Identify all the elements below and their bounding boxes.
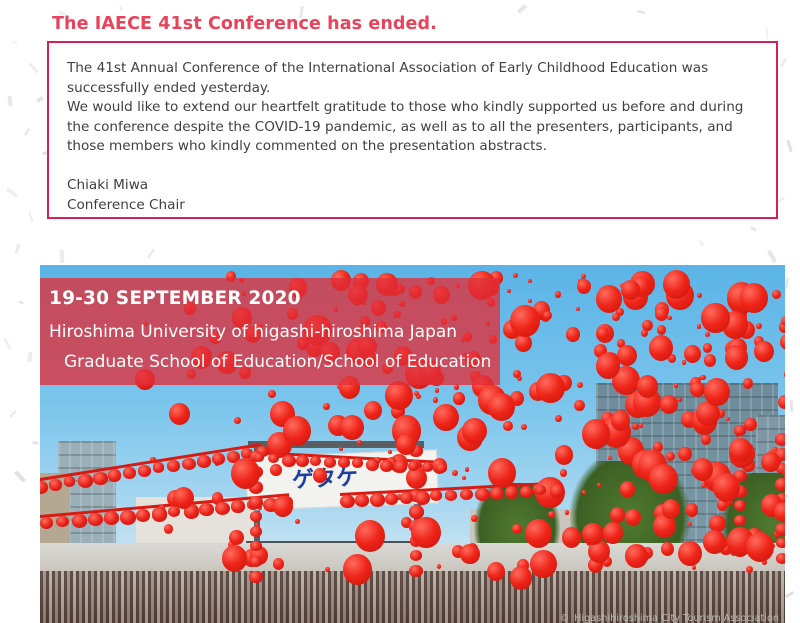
balloon bbox=[666, 452, 675, 461]
conference-banner-image: ゲタケ 19-30 SEPTEMBER 2020 Hiroshima Unive… bbox=[40, 265, 785, 623]
lantern bbox=[430, 490, 442, 501]
lantern bbox=[93, 472, 107, 485]
balloon bbox=[625, 544, 648, 568]
lantern bbox=[338, 457, 350, 468]
balloon bbox=[582, 419, 610, 448]
page-title: The IAECE 41st Conference has ended. bbox=[52, 14, 437, 34]
balloon bbox=[536, 373, 565, 403]
lantern bbox=[56, 516, 69, 528]
balloon bbox=[488, 393, 515, 421]
photo-credit-text: Higashihiroshima City Tourism Associatio… bbox=[574, 613, 779, 623]
balloon bbox=[323, 403, 330, 411]
balloon bbox=[661, 542, 674, 556]
balloon bbox=[465, 467, 469, 471]
balloon bbox=[530, 550, 557, 578]
balloon bbox=[657, 325, 666, 335]
balloon bbox=[663, 270, 690, 299]
balloon bbox=[555, 445, 574, 465]
lantern bbox=[394, 460, 408, 473]
balloon bbox=[726, 417, 730, 421]
balloon bbox=[548, 511, 555, 518]
balloon bbox=[453, 392, 465, 404]
balloon bbox=[437, 564, 441, 568]
balloon bbox=[283, 416, 311, 446]
lantern bbox=[352, 458, 363, 468]
lantern bbox=[167, 460, 180, 472]
balloon bbox=[313, 468, 327, 483]
balloon bbox=[649, 464, 678, 494]
lantern bbox=[120, 510, 136, 525]
lantern bbox=[282, 455, 296, 467]
balloon bbox=[603, 522, 624, 544]
lantern bbox=[776, 553, 785, 564]
balloon bbox=[625, 509, 641, 526]
balloon bbox=[612, 313, 620, 321]
lantern bbox=[104, 511, 119, 525]
lantern bbox=[385, 493, 398, 505]
lantern bbox=[475, 488, 490, 502]
balloon bbox=[433, 404, 459, 431]
balloon bbox=[574, 400, 585, 412]
lantern bbox=[49, 479, 63, 491]
balloon bbox=[273, 496, 293, 517]
lantern bbox=[268, 454, 279, 464]
lantern bbox=[340, 495, 355, 508]
balloon bbox=[682, 360, 686, 364]
balloon bbox=[364, 401, 382, 420]
lantern bbox=[153, 462, 165, 473]
notice-paragraph-2: We would like to extend our heartfelt gr… bbox=[67, 98, 760, 157]
balloon bbox=[596, 353, 620, 379]
balloon bbox=[700, 375, 705, 381]
balloon bbox=[632, 423, 639, 430]
lantern bbox=[108, 469, 121, 481]
balloon bbox=[684, 345, 701, 363]
balloon bbox=[729, 438, 752, 462]
lantern bbox=[370, 493, 385, 507]
balloon bbox=[339, 447, 343, 452]
balloon bbox=[521, 424, 527, 430]
balloon bbox=[725, 345, 748, 370]
balloon bbox=[562, 527, 582, 548]
balloon bbox=[754, 341, 774, 362]
balloon bbox=[639, 423, 644, 428]
balloon bbox=[582, 523, 604, 546]
lantern bbox=[249, 571, 262, 583]
balloon bbox=[582, 490, 586, 494]
lantern bbox=[136, 509, 150, 522]
lantern bbox=[445, 490, 457, 501]
banner-date: 19-30 SEPTEMBER 2020 bbox=[49, 288, 301, 309]
lantern bbox=[249, 496, 263, 509]
notice-paragraph-1: The 41st Annual Conference of the Intern… bbox=[67, 59, 760, 98]
lantern bbox=[250, 556, 262, 567]
lantern bbox=[250, 541, 262, 551]
balloon bbox=[761, 452, 780, 472]
lantern bbox=[550, 484, 565, 498]
balloon bbox=[637, 375, 659, 398]
balloon bbox=[164, 524, 174, 534]
lantern bbox=[409, 565, 423, 577]
balloon bbox=[690, 382, 705, 398]
notice-box: The 41st Annual Conference of the Intern… bbox=[47, 41, 778, 219]
balloon bbox=[510, 566, 532, 590]
lantern bbox=[410, 550, 422, 561]
banner-text-overlay: 19-30 SEPTEMBER 2020 Hiroshima Universit… bbox=[40, 278, 500, 385]
balloon bbox=[701, 303, 729, 333]
balloon bbox=[697, 324, 702, 329]
balloon bbox=[543, 311, 552, 321]
balloon bbox=[756, 323, 762, 329]
lantern bbox=[355, 494, 369, 507]
balloon bbox=[222, 545, 247, 572]
balloon bbox=[778, 395, 785, 409]
balloon bbox=[667, 316, 672, 321]
balloon bbox=[462, 418, 487, 444]
notice-body: The 41st Annual Conference of the Intern… bbox=[67, 59, 760, 215]
lantern bbox=[734, 500, 746, 511]
banner-venue: Hiroshima University of higashi-hiroshim… bbox=[49, 322, 457, 342]
balloon bbox=[460, 544, 479, 565]
balloon bbox=[231, 458, 260, 489]
lantern bbox=[212, 453, 225, 465]
lantern bbox=[734, 425, 746, 436]
balloon bbox=[686, 503, 699, 517]
balloon bbox=[772, 290, 781, 299]
lantern bbox=[422, 462, 433, 472]
copyright-icon: © bbox=[560, 613, 570, 623]
balloon bbox=[411, 517, 440, 548]
balloon bbox=[621, 280, 640, 300]
balloon bbox=[596, 285, 622, 313]
balloon bbox=[229, 530, 244, 546]
balloon bbox=[743, 378, 754, 389]
lantern bbox=[88, 513, 103, 527]
balloon bbox=[678, 541, 702, 566]
balloon bbox=[510, 305, 540, 337]
lantern bbox=[231, 500, 245, 513]
balloon bbox=[713, 473, 740, 502]
balloon bbox=[357, 440, 362, 445]
lantern bbox=[78, 474, 93, 488]
lantern bbox=[310, 456, 321, 466]
balloon bbox=[150, 457, 156, 463]
signature-spacer bbox=[67, 157, 760, 176]
conference-announcement-page: The IAECE 41st Conference has ended. The… bbox=[0, 0, 800, 623]
balloon bbox=[525, 519, 552, 548]
balloon bbox=[471, 515, 478, 522]
balloon bbox=[487, 562, 505, 581]
balloon bbox=[566, 327, 580, 341]
lantern bbox=[400, 492, 413, 504]
balloon bbox=[173, 487, 194, 509]
lantern bbox=[775, 478, 785, 491]
balloon bbox=[325, 567, 330, 572]
balloon bbox=[513, 370, 521, 379]
balloon bbox=[660, 395, 678, 414]
lantern bbox=[776, 538, 785, 548]
lantern bbox=[152, 507, 168, 522]
balloon bbox=[169, 403, 190, 425]
lantern bbox=[415, 491, 430, 505]
balloon bbox=[688, 522, 692, 526]
balloon bbox=[740, 283, 768, 313]
balloon bbox=[744, 418, 757, 432]
balloon bbox=[565, 510, 569, 515]
balloon bbox=[642, 320, 652, 331]
balloon bbox=[273, 558, 285, 570]
photo-credit: ©Higashihiroshima City Tourism Associati… bbox=[560, 613, 779, 623]
balloon bbox=[396, 434, 416, 455]
balloon bbox=[454, 384, 459, 389]
balloon bbox=[581, 274, 586, 279]
lantern bbox=[505, 486, 519, 498]
balloon bbox=[555, 291, 561, 298]
signature-role: Conference Chair bbox=[67, 196, 760, 216]
balloon bbox=[697, 293, 702, 298]
balloon bbox=[355, 520, 385, 552]
lantern bbox=[490, 487, 504, 500]
balloon bbox=[701, 434, 712, 445]
banner-school: Graduate School of Education/School of E… bbox=[64, 352, 491, 372]
lantern bbox=[436, 463, 447, 474]
lantern bbox=[734, 515, 746, 526]
signature-name: Chiaki Miwa bbox=[67, 176, 760, 196]
balloon bbox=[611, 410, 630, 430]
balloon bbox=[268, 390, 276, 398]
balloon bbox=[649, 335, 673, 361]
balloon bbox=[435, 388, 439, 392]
